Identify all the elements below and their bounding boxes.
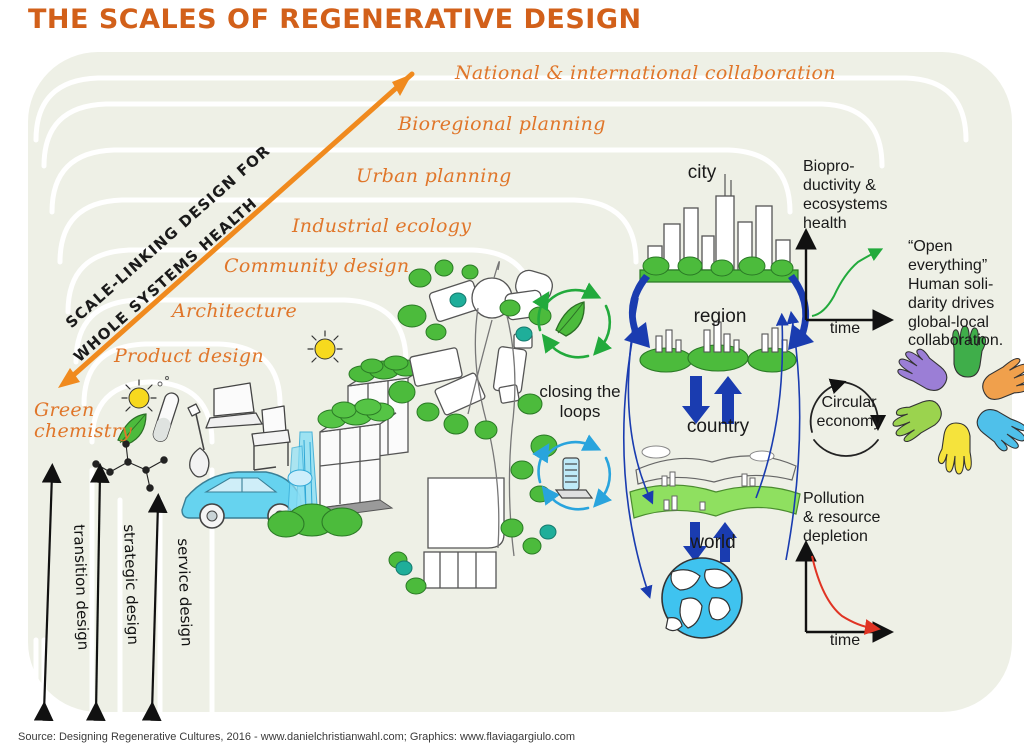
scale-label-product: Product design (114, 345, 264, 367)
open-everything-text: “Open everything” Human soli- darity dri… (908, 238, 1020, 351)
system-label-country: country (670, 416, 766, 438)
system-label-city: city (672, 162, 732, 184)
chart-title-line: Pollution (803, 490, 893, 509)
circular-economy-line1: Circular (808, 394, 890, 413)
system-label-world: world (678, 532, 748, 554)
infographic-canvas: THE SCALES OF REGENERATIVE DESIGN (0, 0, 1024, 752)
scale-label-green-chemistry: Green chemistry (34, 400, 126, 443)
open-everything-line: everything” (908, 257, 1020, 276)
approach-label-service: service design (174, 538, 196, 647)
bioproductivity-chart-title: Biopro- ductivity & ecosystems health (803, 158, 889, 234)
scale-label-community: Community design (224, 255, 409, 277)
chart-title-line: & resource (803, 509, 893, 528)
page-title: THE SCALES OF REGENERATIVE DESIGN (28, 4, 642, 35)
pollution-chart-xlabel: time (818, 632, 872, 651)
open-everything-line: global-local (908, 314, 1020, 333)
scale-label-urban: Urban planning (356, 165, 512, 187)
open-everything-line: collaboration. (908, 332, 1020, 351)
pollution-chart-title: Pollution & resource depletion (803, 490, 893, 547)
open-everything-line: Human soli- (908, 276, 1020, 295)
open-everything-line: darity drives (908, 295, 1020, 314)
chart-title-line: ecosystems (803, 196, 889, 215)
scale-label-industrial: Industrial ecology (292, 215, 471, 237)
scale-label-national: National & international collaboration (455, 62, 836, 84)
chart-title-line: depletion (803, 528, 893, 547)
circular-economy-line2: economy (808, 413, 890, 432)
scale-label-architecture: Architecture (172, 300, 297, 322)
chart-title-line: ductivity & (803, 177, 889, 196)
source-footer: Source: Designing Regenerative Cultures,… (18, 731, 575, 743)
circular-economy-label: Circular economy (808, 394, 890, 432)
chart-title-line: health (803, 215, 889, 234)
open-everything-line: “Open (908, 238, 1020, 257)
chart-title-line: Biopro- (803, 158, 889, 177)
scale-label-bioregional: Bioregional planning (398, 113, 606, 135)
closing-the-loops-caption: closing the loops (530, 382, 630, 422)
bioproductivity-chart-xlabel: time (818, 320, 872, 339)
system-label-region: region (680, 306, 760, 328)
